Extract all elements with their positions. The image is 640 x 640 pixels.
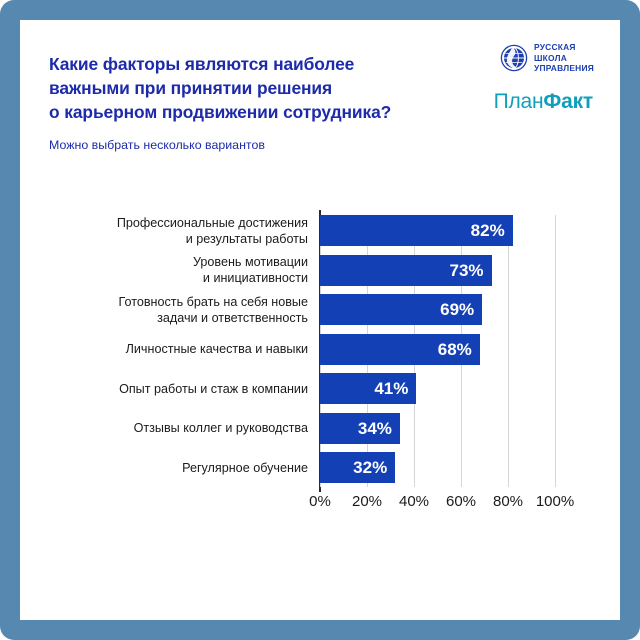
bar-row[interactable]: 69% — [320, 294, 555, 325]
header: Какие факторы являются наиболее важными … — [20, 20, 620, 170]
bar-value-label: 68% — [438, 334, 472, 365]
category-label-line: Готовность брать на себя новые — [119, 294, 308, 310]
rsu-line-3: УПРАВЛЕНИЯ — [534, 63, 594, 74]
category-label-line: и результаты работы — [117, 231, 308, 247]
bar-value-label: 73% — [450, 255, 484, 286]
logo-group: РУССКАЯ ШКОЛА УПРАВЛЕНИЯ ПланФакт — [414, 42, 594, 132]
x-axis-ticks: 0%20%40%60%80%100% — [320, 492, 595, 516]
outer-frame: Какие факторы являются наиболее важными … — [0, 0, 640, 640]
title-line-1: Какие факторы являются наиболее — [49, 52, 439, 76]
planfakt-plan: План — [494, 90, 544, 113]
gridline — [555, 215, 556, 487]
rsu-logo-text: РУССКАЯ ШКОЛА УПРАВЛЕНИЯ — [534, 42, 594, 74]
bar[interactable]: 41% — [320, 373, 416, 404]
rsu-line-2: ШКОЛА — [534, 53, 594, 64]
category-label: Профессиональные достиженияи результаты … — [117, 215, 308, 247]
bar-row[interactable]: 82% — [320, 215, 555, 246]
title-line-3: о карьерном продвижении сотрудника? — [49, 100, 439, 124]
bar-value-label: 41% — [374, 373, 408, 404]
planfakt-fakt: Факт — [543, 90, 593, 113]
category-label: Отзывы коллег и руководства — [134, 420, 308, 436]
category-label: Личностные качества и навыки — [126, 341, 308, 357]
title-line-2: важными при принятии решения — [49, 76, 439, 100]
category-label-line: Профессиональные достижения — [117, 215, 308, 231]
bar-value-label: 69% — [440, 294, 474, 325]
category-label-line: Регулярное обучение — [182, 460, 308, 476]
bar[interactable]: 69% — [320, 294, 482, 325]
category-label-line: Личностные качества и навыки — [126, 341, 308, 357]
bar-row[interactable]: 73% — [320, 255, 555, 286]
page-subtitle: Можно выбрать несколько вариантов — [49, 137, 265, 153]
category-label-line: и инициативности — [193, 270, 308, 286]
category-label: Готовность брать на себя новыезадачи и о… — [119, 294, 308, 326]
rsu-line-1: РУССКАЯ — [534, 42, 594, 53]
category-label-line: Отзывы коллег и руководства — [134, 420, 308, 436]
plot-area: 82%73%69%68%41%34%32% — [320, 215, 555, 487]
infographic-card: Какие факторы являются наиболее важными … — [20, 20, 620, 620]
category-label: Уровень мотивациии инициативности — [193, 254, 308, 286]
x-tick-label: 0% — [309, 492, 331, 512]
category-label: Опыт работы и стаж в компании — [119, 381, 308, 397]
bar[interactable]: 34% — [320, 413, 400, 444]
planfakt-logo: ПланФакт — [494, 90, 593, 114]
bar[interactable]: 32% — [320, 452, 395, 483]
bar-value-label: 34% — [358, 413, 392, 444]
bar-row[interactable]: 32% — [320, 452, 555, 483]
bar-value-label: 82% — [471, 215, 505, 246]
x-tick-label: 100% — [536, 492, 574, 512]
category-label-line: Уровень мотивации — [193, 254, 308, 270]
x-tick-label: 80% — [493, 492, 523, 512]
page-title: Какие факторы являются наиболее важными … — [49, 52, 439, 124]
x-tick-label: 20% — [352, 492, 382, 512]
category-label-line: Опыт работы и стаж в компании — [119, 381, 308, 397]
bar[interactable]: 82% — [320, 215, 513, 246]
bar-row[interactable]: 34% — [320, 413, 555, 444]
globe-icon — [500, 44, 528, 72]
rsu-logo: РУССКАЯ ШКОЛА УПРАВЛЕНИЯ — [500, 42, 594, 74]
category-label-line: задачи и ответственность — [119, 310, 308, 326]
x-tick-label: 40% — [399, 492, 429, 512]
bar[interactable]: 68% — [320, 334, 480, 365]
bar[interactable]: 73% — [320, 255, 492, 286]
x-tick-label: 60% — [446, 492, 476, 512]
category-label: Регулярное обучение — [182, 460, 308, 476]
bar-value-label: 32% — [353, 452, 387, 483]
bar-chart: 82%73%69%68%41%34%32% Профессиональные д… — [20, 190, 620, 560]
bar-row[interactable]: 68% — [320, 334, 555, 365]
bar-row[interactable]: 41% — [320, 373, 555, 404]
